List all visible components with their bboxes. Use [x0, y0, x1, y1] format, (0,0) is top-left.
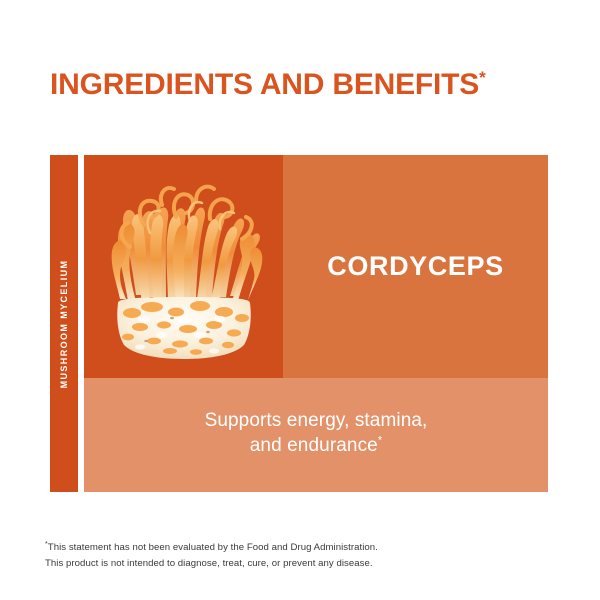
disclaimer-line-2: This product is not intended to diagnose… — [45, 556, 545, 572]
page-title-text: INGREDIENTS AND BENEFITS — [50, 68, 479, 101]
disclaimer-line-1: *This statement has not been evaluated b… — [45, 540, 545, 556]
benefit-band: Supports energy, stamina,and endurance* — [84, 378, 548, 492]
ingredient-name: CORDYCEPS — [283, 155, 548, 378]
benefit-footnote-marker: * — [378, 435, 382, 447]
benefit-line-2: and endurance — [250, 435, 378, 456]
benefit-text: Supports energy, stamina,and endurance* — [205, 409, 428, 460]
disclaimer-line-1-text: This statement has not been evaluated by… — [48, 542, 378, 553]
category-bar-label: MUSHROOM MYCELIUM — [59, 259, 69, 388]
category-bar: MUSHROOM MYCELIUM — [50, 155, 78, 492]
page-title-footnote-marker: * — [479, 68, 485, 87]
page-title: INGREDIENTS AND BENEFITS* — [50, 70, 570, 100]
benefit-line-1: Supports energy, stamina, — [205, 410, 428, 431]
ingredient-card: CORDYCEPS Supports energy, stamina,and e… — [84, 155, 548, 492]
cordyceps-photo — [84, 155, 283, 378]
ingredients-and-benefits-panel: INGREDIENTS AND BENEFITS* MUSHROOM MYCEL… — [0, 0, 600, 600]
disclaimer: *This statement has not been evaluated b… — [45, 540, 545, 572]
